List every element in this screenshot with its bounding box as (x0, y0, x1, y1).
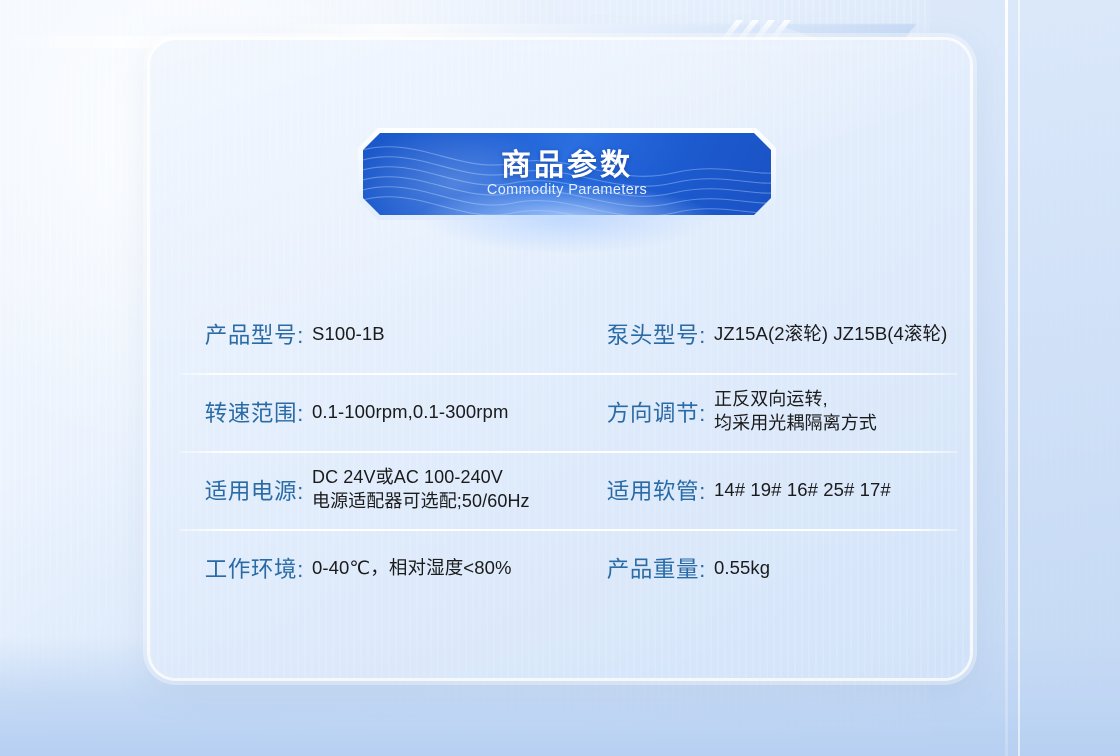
banner-text-group: 商品参数 Commodity Parameters (363, 133, 771, 215)
decor-right-edge-line-1 (1005, 0, 1008, 756)
spec-value: 0-40℃，相对湿度<80% (312, 556, 512, 580)
spec-cell-product-weight: 产品重量: 0.55kg (578, 552, 960, 584)
spec-cell-working-environment: 工作环境: 0-40℃，相对湿度<80% (178, 552, 578, 584)
spec-label: 泵头型号: (578, 318, 706, 350)
decor-diagonal-bar-primary (264, 24, 917, 40)
spec-value: 0.1-100rpm,0.1-300rpm (312, 400, 508, 424)
spec-label: 转速范围: (182, 396, 304, 428)
spec-value: JZ15A(2滚轮) JZ15B(4滚轮) (714, 322, 947, 346)
table-row: 转速范围: 0.1-100rpm,0.1-300rpm 方向调节: 正反双向运转… (178, 373, 960, 451)
spec-cell-pump-head-model: 泵头型号: JZ15A(2滚轮) JZ15B(4滚轮) (578, 318, 960, 350)
spec-value: S100-1B (312, 322, 385, 346)
spec-label: 适用软管: (578, 474, 706, 506)
table-row: 产品型号: S100-1B 泵头型号: JZ15A(2滚轮) JZ15B(4滚轮… (178, 295, 960, 373)
section-header-banner: 商品参数 Commodity Parameters (358, 128, 776, 220)
table-row: 适用电源: DC 24V或AC 100-240V 电源适配器可选配;50/60H… (178, 451, 960, 529)
spec-cell-direction-control: 方向调节: 正反双向运转, 均采用光耦隔离方式 (578, 388, 960, 436)
spec-cell-product-model: 产品型号: S100-1B (178, 318, 578, 350)
spec-value: 0.55kg (714, 556, 770, 580)
spec-value: 正反双向运转, 均采用光耦隔离方式 (714, 388, 877, 436)
table-row: 工作环境: 0-40℃，相对湿度<80% 产品重量: 0.55kg (178, 529, 960, 607)
spec-value: DC 24V或AC 100-240V 电源适配器可选配;50/60Hz (312, 466, 530, 514)
decor-triangle-b (760, 18, 820, 40)
infographic-stage: 商品参数 Commodity Parameters 产品型号: S100-1B … (0, 0, 1120, 756)
specification-table: 产品型号: S100-1B 泵头型号: JZ15A(2滚轮) JZ15B(4滚轮… (178, 295, 960, 607)
spec-label: 方向调节: (578, 396, 706, 428)
banner-title-english: Commodity Parameters (487, 183, 647, 199)
spec-cell-applicable-tubing: 适用软管: 14# 19# 16# 25# 17# (578, 474, 960, 506)
spec-label: 工作环境: (182, 552, 304, 584)
spec-label: 适用电源: (182, 474, 304, 506)
banner-title-chinese: 商品参数 (501, 149, 633, 183)
parameters-card: 商品参数 Commodity Parameters 产品型号: S100-1B … (150, 40, 970, 678)
spec-cell-speed-range: 转速范围: 0.1-100rpm,0.1-300rpm (178, 396, 578, 428)
spec-value: 14# 19# 16# 25# 17# (714, 478, 891, 502)
decor-right-edge-line-2 (1018, 0, 1020, 756)
spec-label: 产品型号: (182, 318, 304, 350)
spec-label: 产品重量: (578, 552, 706, 584)
banner-face: 商品参数 Commodity Parameters (363, 133, 771, 215)
spec-cell-power-supply: 适用电源: DC 24V或AC 100-240V 电源适配器可选配;50/60H… (178, 466, 578, 514)
